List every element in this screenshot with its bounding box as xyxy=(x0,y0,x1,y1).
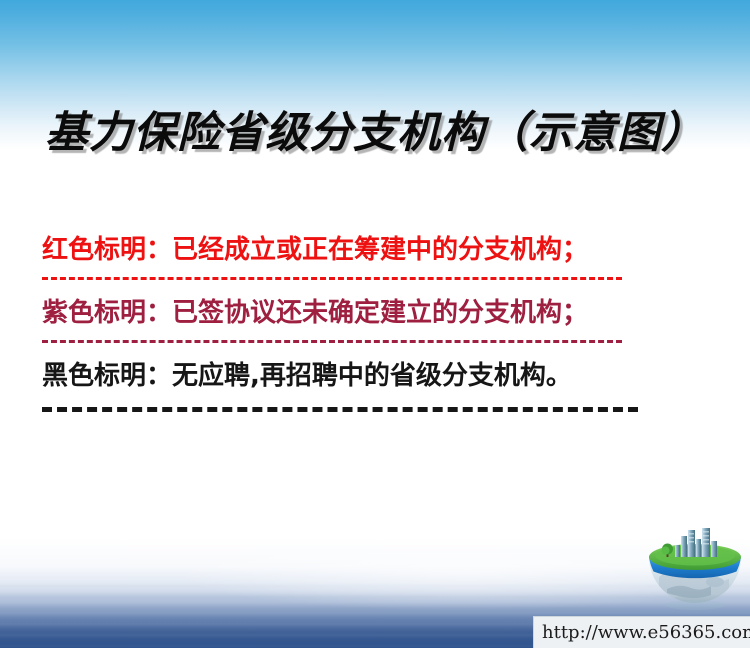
legend-item-black-body: 无应聘,再招聘中的省级分支机构。 xyxy=(172,361,572,391)
legend-item-red: 红色标明：已经成立或正在筹建中的分支机构； xyxy=(42,233,708,280)
legend-divider-black xyxy=(42,407,638,412)
page-title: 基力保险省级分支机构（示意图） xyxy=(0,98,750,160)
legend-item-black: 黑色标明：无应聘,再招聘中的省级分支机构。 xyxy=(42,359,708,412)
legend-item-red-lead: 红色标明： xyxy=(42,235,172,265)
globe-city-logo xyxy=(645,525,745,620)
legend-item-purple-body: 已签协议还未确定建立的分支机构； xyxy=(172,298,588,328)
globe-city-icon xyxy=(645,525,745,620)
legend-item-red-body: 已经成立或正在筹建中的分支机构； xyxy=(172,235,588,265)
legend-divider-red xyxy=(42,277,622,280)
legend-item-purple-lead: 紫色标明： xyxy=(42,298,172,328)
legend-divider-purple xyxy=(42,340,622,343)
watermark-bar: http://www.e56365.com xyxy=(533,616,750,648)
legend-item-black-lead: 黑色标明： xyxy=(42,361,172,391)
legend-block: 红色标明：已经成立或正在筹建中的分支机构； 紫色标明：已签协议还未确定建立的分支… xyxy=(42,233,708,412)
legend-item-purple: 紫色标明：已签协议还未确定建立的分支机构； xyxy=(42,296,708,343)
legend-item-red-text: 红色标明：已经成立或正在筹建中的分支机构； xyxy=(42,233,708,267)
watermark-url: http://www.e56365.com xyxy=(534,617,750,648)
legend-item-purple-text: 紫色标明：已签协议还未确定建立的分支机构； xyxy=(42,296,708,330)
legend-item-black-text: 黑色标明：无应聘,再招聘中的省级分支机构。 xyxy=(42,359,708,393)
slide-canvas: 基力保险省级分支机构（示意图） 红色标明：已经成立或正在筹建中的分支机构； 紫色… xyxy=(0,0,750,648)
